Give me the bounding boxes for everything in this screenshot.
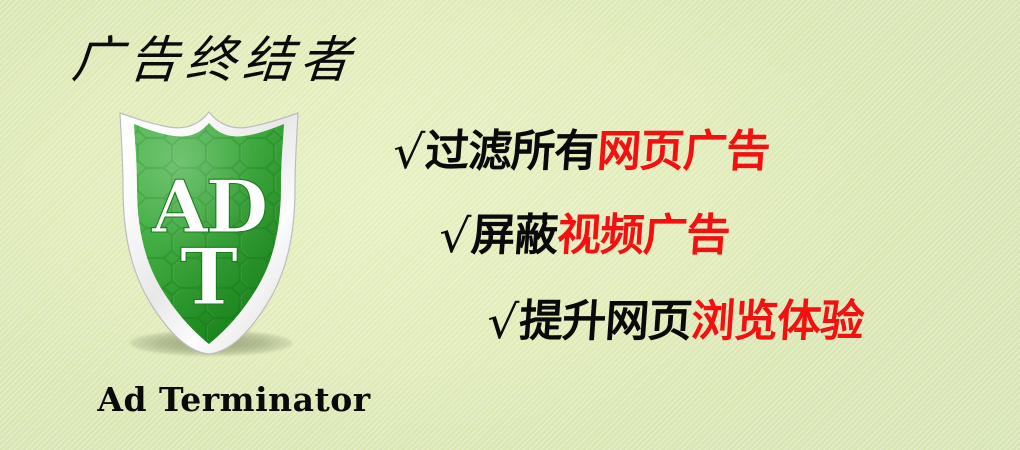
- shield-icon: AD T: [104, 108, 314, 358]
- feature-line-3: √提升网页浏览体验: [486, 294, 865, 348]
- feature-2-red-text: 视频广告: [555, 210, 731, 261]
- feature-line-2: √屏蔽视频广告: [438, 208, 731, 262]
- feature-line-1: √过滤所有网页广告: [392, 124, 771, 178]
- logo-letter-t: T: [180, 232, 238, 323]
- check-icon: √: [485, 296, 519, 348]
- feature-1-black-text: 过滤所有: [423, 126, 599, 177]
- page-title: 广告终结者: [69, 26, 415, 96]
- logo: AD T: [104, 108, 314, 358]
- feature-3-black-text: 提升网页: [517, 296, 693, 347]
- check-icon: √: [437, 210, 471, 262]
- feature-3-red-text: 浏览体验: [689, 296, 865, 347]
- feature-1-red-text: 网页广告: [595, 126, 771, 177]
- brand-name-english: Ad Terminator: [84, 380, 384, 419]
- promo-banner: 广告终结者: [0, 0, 1020, 450]
- check-icon: √: [391, 126, 425, 178]
- feature-2-black-text: 屏蔽: [469, 210, 559, 261]
